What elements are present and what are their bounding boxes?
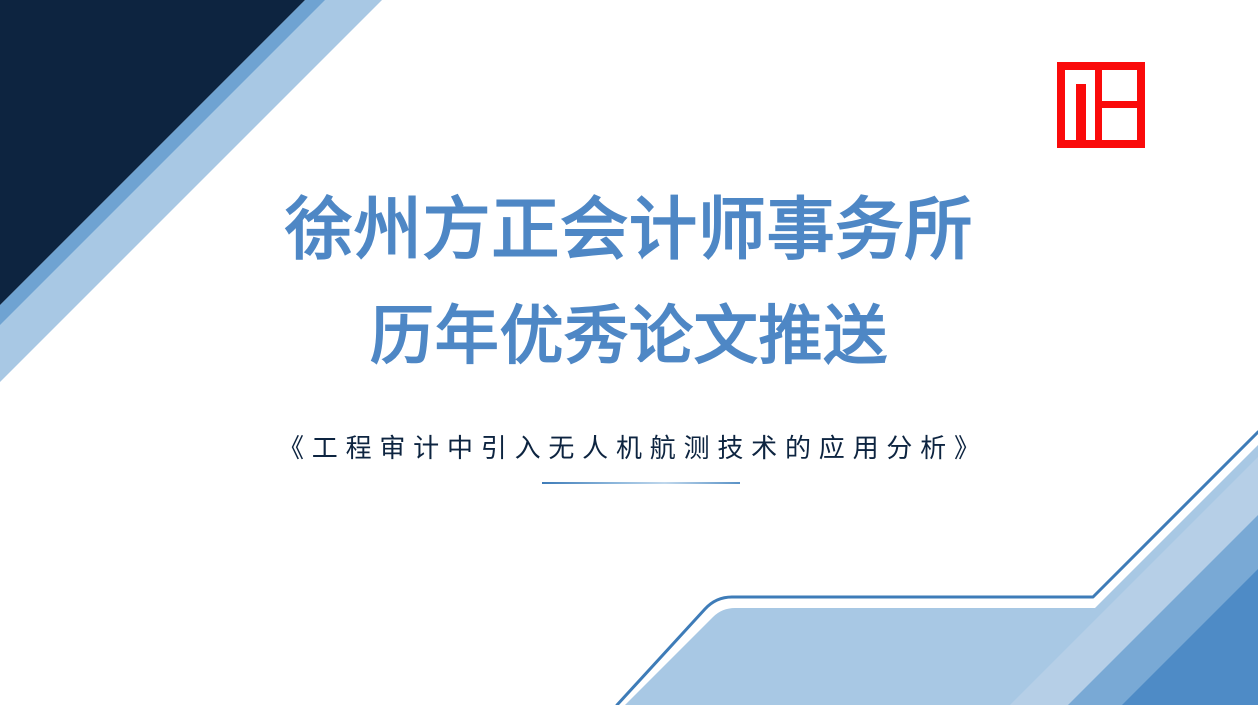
subtitle-divider-rule [542, 482, 740, 484]
page-title-line-1: 徐州方正会计师事务所 [0, 196, 1258, 264]
ribbon-fill [625, 445, 1258, 705]
title-slide: 徐州方正会计师事务所 历年优秀论文推送 《工程审计中引入无人机航测技术的应用分析… [0, 0, 1258, 705]
ribbon-band-mid [1068, 515, 1258, 705]
logo-top-right-block [1102, 70, 1137, 101]
ribbon-band-deep [1122, 569, 1258, 705]
mid-blue-diagonal-band [0, 0, 325, 325]
page-title-line-2: 历年优秀论文推送 [0, 304, 1258, 368]
paper-subtitle: 《工程审计中引入无人机航测技术的应用分析》 [0, 428, 1258, 465]
fangzheng-logo-icon [1057, 62, 1145, 148]
ribbon-band-pale [1010, 457, 1258, 705]
logo-bottom-right-block [1102, 108, 1137, 140]
ribbon-outline-stroke [617, 432, 1258, 705]
